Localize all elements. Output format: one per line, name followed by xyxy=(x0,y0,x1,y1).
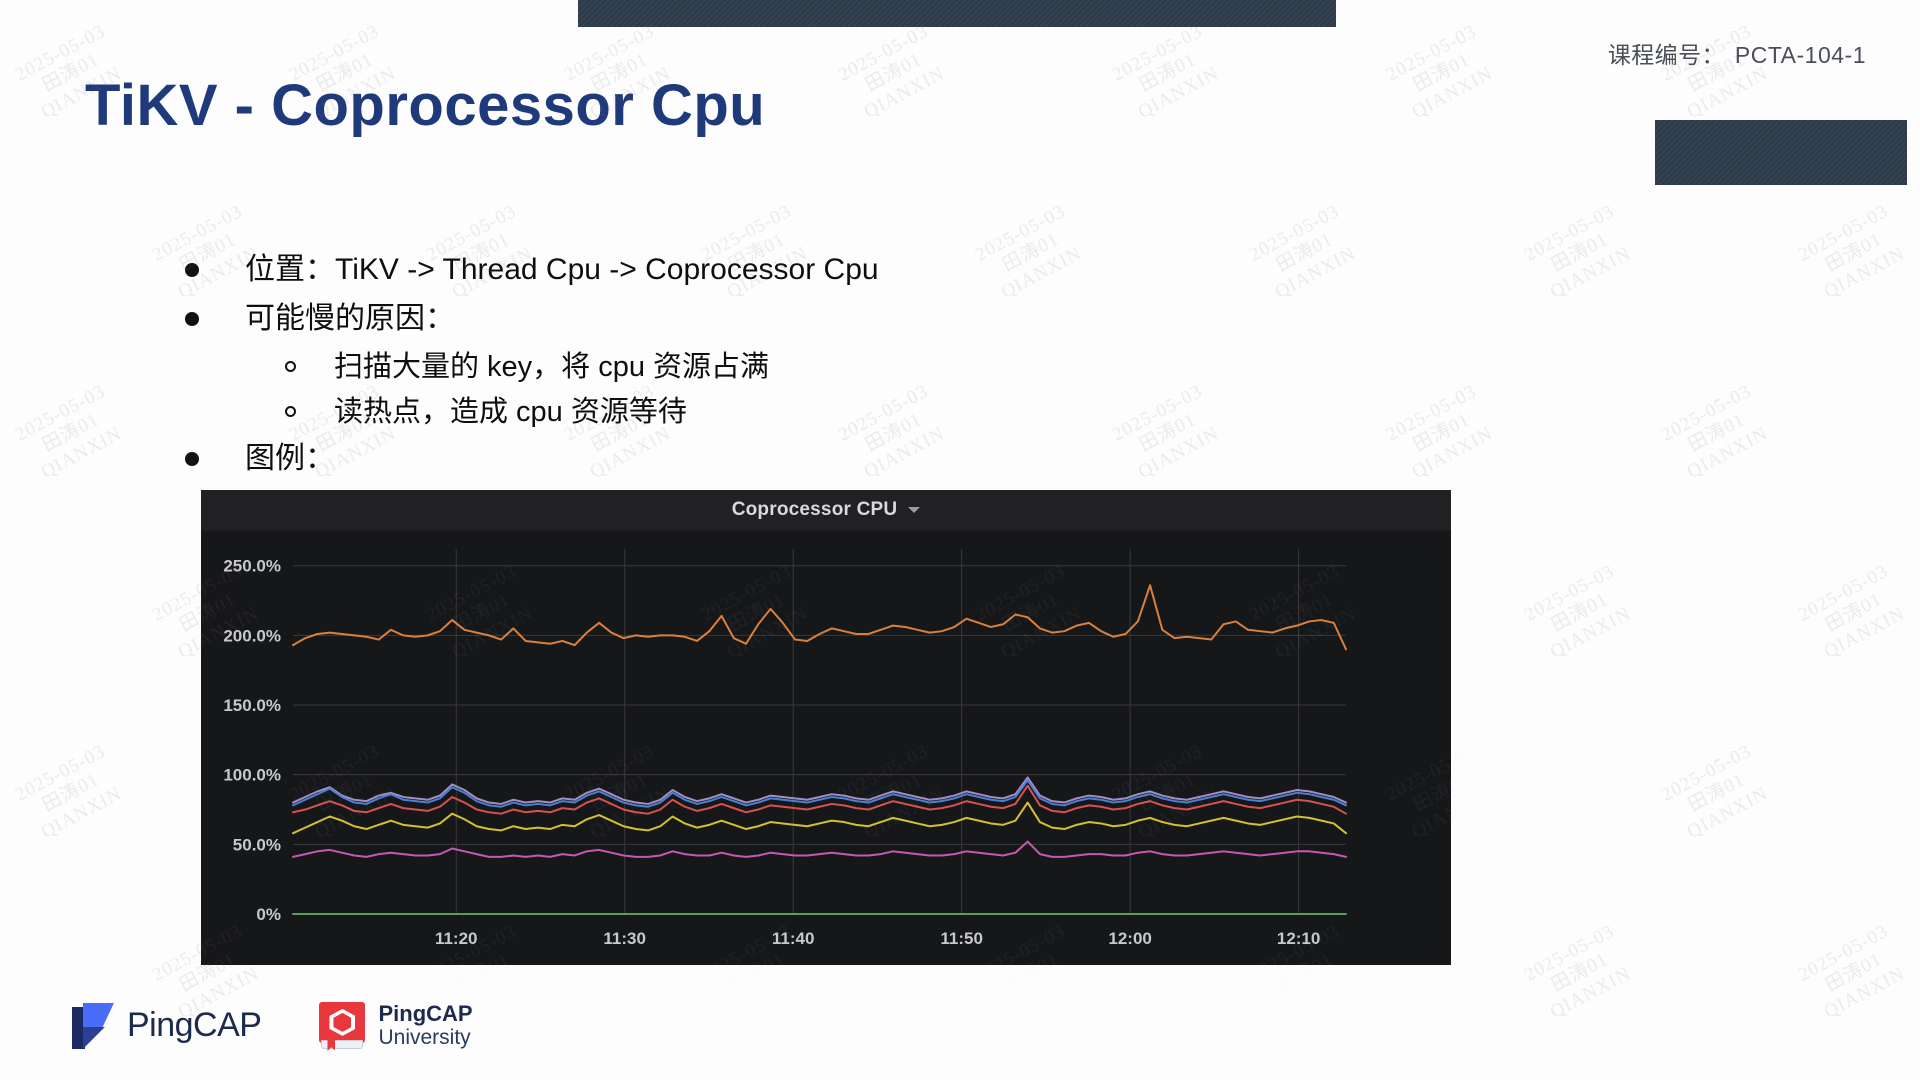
grafana-panel: Coprocessor CPU 0%50.0%100.0%150.0%200.0… xyxy=(201,490,1451,965)
university-wordmark: PingCAP University xyxy=(378,1002,472,1050)
bullet-circle-icon xyxy=(285,361,296,372)
y-axis-tick-label: 50.0% xyxy=(233,835,281,854)
series-line-coprocessor-high xyxy=(293,585,1346,649)
bullet-dot-icon xyxy=(185,312,199,326)
watermark: 2025-05-03田涛01QIANXIN xyxy=(1521,201,1640,307)
course-code-label: 课程编号： xyxy=(1608,42,1725,68)
list-item: 图例： xyxy=(185,439,1385,479)
watermark: 2025-05-03田涛01QIANXIN xyxy=(1521,561,1640,667)
watermark: 2025-05-03田涛01QIANXIN xyxy=(1109,21,1228,127)
list-item-label: 图例： xyxy=(245,439,335,479)
watermark: 2025-05-03田涛01QIANXIN xyxy=(1795,921,1914,1027)
university-line1: PingCAP xyxy=(378,1002,472,1027)
y-axis-tick-label: 0% xyxy=(256,905,281,924)
watermark: 2025-05-03田涛01QIANXIN xyxy=(835,21,954,127)
pingcap-wordmark: PingCAP xyxy=(127,1006,261,1045)
watermark: 2025-05-03田涛01QIANXIN xyxy=(1383,381,1502,487)
footer-logos: PingCAP PingCAP University xyxy=(72,1002,473,1050)
list-item: 扫描大量的 key，将 cpu 资源占满 xyxy=(285,348,1385,387)
decorative-right-bar xyxy=(1655,120,1907,185)
x-axis-tick-label: 11:20 xyxy=(435,929,478,948)
panel-body: 0%50.0%100.0%150.0%200.0%250.0%11:2011:3… xyxy=(201,531,1451,965)
list-item: 读热点，造成 cpu 资源等待 xyxy=(285,393,1385,432)
watermark: 2025-05-03田涛01QIANXIN xyxy=(1795,201,1914,307)
watermark: 2025-05-03田涛01QIANXIN xyxy=(1383,21,1502,127)
list-item-label: 可能慢的原因： xyxy=(245,299,455,339)
coprocessor-cpu-chart: 0%50.0%100.0%150.0%200.0%250.0%11:2011:3… xyxy=(201,531,1451,965)
pingcap-logo: PingCAP xyxy=(72,1003,261,1049)
decorative-top-bar xyxy=(578,0,1336,27)
pingcap-university-logo: PingCAP University xyxy=(319,1002,472,1050)
bullet-circle-icon xyxy=(285,406,296,417)
list-item-label: 位置：TiKV -> Thread Cpu -> Coprocessor Cpu xyxy=(245,250,879,290)
bullet-list: 位置：TiKV -> Thread Cpu -> Coprocessor Cpu… xyxy=(185,250,1385,488)
bullet-dot-icon xyxy=(185,263,199,277)
y-axis-tick-label: 200.0% xyxy=(223,626,281,645)
watermark: 2025-05-03田涛01QIANXIN xyxy=(12,381,131,487)
pingcap-mark-icon xyxy=(72,1003,114,1049)
course-code-value: PCTA-104-1 xyxy=(1735,42,1866,68)
watermark: 2025-05-03田涛01QIANXIN xyxy=(1795,561,1914,667)
slide: 课程编号：PCTA-104-1 TiKV - Coprocessor Cpu 位… xyxy=(0,0,1920,1080)
watermark: 2025-05-03田涛01QIANXIN xyxy=(1658,381,1777,487)
x-axis-tick-label: 11:30 xyxy=(603,929,646,948)
university-line2: University xyxy=(378,1026,472,1050)
watermark: 2025-05-03田涛01QIANXIN xyxy=(1658,741,1777,847)
y-axis-tick-label: 100.0% xyxy=(223,766,281,785)
page-title: TiKV - Coprocessor Cpu xyxy=(85,72,765,139)
chevron-down-icon[interactable] xyxy=(908,507,920,513)
list-item: 可能慢的原因： xyxy=(185,299,1385,339)
watermark: 2025-05-03田涛01QIANXIN xyxy=(12,741,131,847)
list-item-label: 读热点，造成 cpu 资源等待 xyxy=(334,393,687,432)
list-item: 位置：TiKV -> Thread Cpu -> Coprocessor Cpu xyxy=(185,250,1385,290)
x-axis-tick-label: 11:50 xyxy=(940,929,983,948)
bullet-dot-icon xyxy=(185,452,199,466)
x-axis-tick-label: 12:00 xyxy=(1108,929,1151,948)
y-axis-tick-label: 250.0% xyxy=(223,557,281,576)
list-item-label: 扫描大量的 key，将 cpu 资源占满 xyxy=(334,348,769,387)
book-icon xyxy=(319,1002,365,1050)
panel-header[interactable]: Coprocessor CPU xyxy=(201,490,1451,531)
x-axis-tick-label: 11:40 xyxy=(772,929,815,948)
watermark: 2025-05-03田涛01QIANXIN xyxy=(1521,921,1640,1027)
course-code: 课程编号：PCTA-104-1 xyxy=(1608,36,1866,70)
y-axis-tick-label: 150.0% xyxy=(223,696,281,715)
panel-title: Coprocessor CPU xyxy=(732,499,898,521)
x-axis-tick-label: 12:10 xyxy=(1277,929,1320,948)
